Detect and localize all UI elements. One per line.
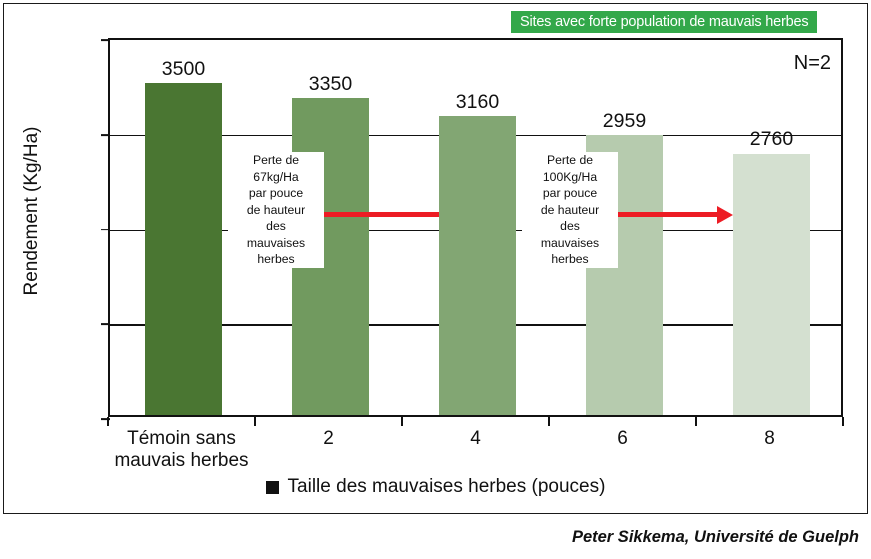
legend-marker-icon bbox=[266, 481, 279, 494]
bar[interactable] bbox=[733, 154, 810, 416]
bar-value-label: 2959 bbox=[603, 110, 646, 133]
x-tick-mark bbox=[695, 417, 697, 426]
y-tick-mark bbox=[101, 39, 110, 41]
x-tick-mark bbox=[842, 417, 844, 426]
loss-annotation: Perte de100Kg/Hapar poucede hauteurdesma… bbox=[522, 152, 618, 268]
legend-label: Taille des mauvaises herbes (pouces) bbox=[288, 476, 606, 498]
loss-annotation: Perte de67kg/Hapar poucede hauteurdesmau… bbox=[228, 152, 324, 268]
y-tick-mark bbox=[101, 134, 110, 136]
y-axis-title: Rendement (Kg/Ha) bbox=[21, 61, 43, 361]
chart-title-banner: Sites avec forte population de mauvais h… bbox=[511, 11, 817, 33]
y-tick-mark bbox=[101, 229, 110, 231]
attribution-footer: Peter Sikkema, Université de Guelph bbox=[572, 528, 859, 547]
x-tick-mark bbox=[107, 417, 109, 426]
x-tick-mark bbox=[401, 417, 403, 426]
chart-page: Sites avec forte population de mauvais h… bbox=[0, 0, 871, 559]
bar-value-label: 3500 bbox=[162, 58, 205, 81]
bar[interactable] bbox=[145, 83, 222, 415]
x-tick-label: 8 bbox=[670, 428, 870, 450]
y-tick-mark bbox=[101, 323, 110, 325]
bar-value-label: 2760 bbox=[750, 128, 793, 151]
chart-title-text: Sites avec forte population de mauvais h… bbox=[520, 14, 808, 30]
sample-size-annotation: N=2 bbox=[794, 52, 831, 75]
x-tick-mark bbox=[254, 417, 256, 426]
loss-arrow-line bbox=[308, 212, 439, 217]
x-tick-mark bbox=[548, 417, 550, 426]
bar[interactable] bbox=[439, 116, 516, 415]
arrow-right-icon bbox=[717, 206, 733, 224]
legend: Taille des mauvaises herbes (pouces) bbox=[0, 476, 871, 498]
bar-value-label: 3160 bbox=[456, 91, 499, 114]
bar-value-label: 3350 bbox=[309, 73, 352, 96]
plot-area: N=2 010002000300040003500335031602959276… bbox=[108, 38, 843, 417]
